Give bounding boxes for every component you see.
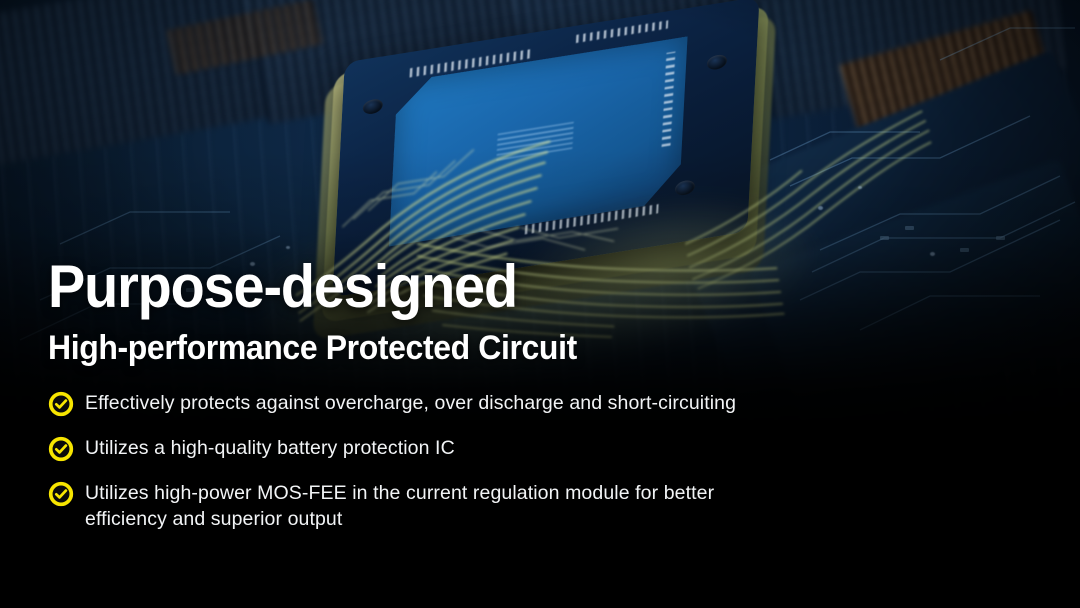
list-item-label: Utilizes high-power MOS-FEE in the curre… [85, 480, 714, 532]
list-item-label: Effectively protects against overcharge,… [85, 390, 736, 416]
check-circle-icon [48, 481, 74, 507]
text-content: Purpose-designed High-performance Protec… [48, 256, 948, 532]
feature-list: Effectively protects against overcharge,… [48, 390, 948, 532]
page-subtitle: High-performance Protected Circuit [48, 329, 894, 368]
page-title: Purpose-designed [48, 256, 885, 317]
list-item: Utilizes high-power MOS-FEE in the curre… [48, 480, 948, 532]
check-circle-icon [48, 436, 74, 462]
list-item: Effectively protects against overcharge,… [48, 390, 948, 417]
list-item-label: Utilizes a high-quality battery protecti… [85, 435, 455, 461]
slide-root: Purpose-designed High-performance Protec… [0, 0, 1080, 608]
list-item: Utilizes a high-quality battery protecti… [48, 435, 948, 462]
check-circle-icon [48, 391, 74, 417]
